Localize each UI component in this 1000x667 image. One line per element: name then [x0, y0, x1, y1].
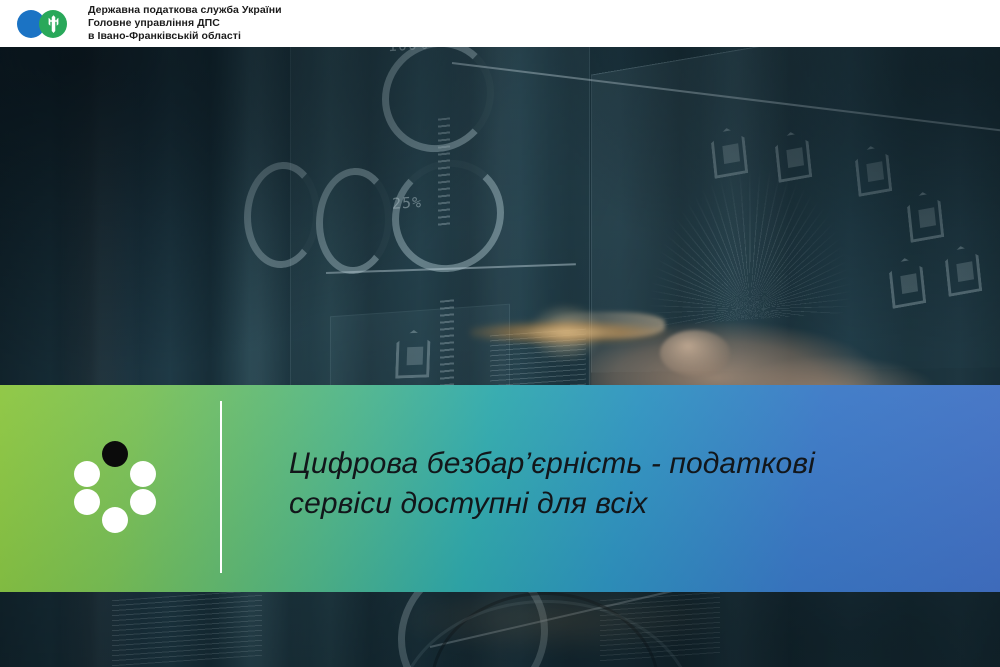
org-line-2: Головне управління ДПС [88, 17, 282, 30]
dot-bottom-left [74, 489, 100, 515]
dot-top-accent [102, 441, 128, 467]
ukraine-trident-icon [46, 15, 61, 33]
headline-line-2: сервіси доступні для всіх [289, 484, 929, 524]
banner-headline: Цифрова безбар’єрність - податкові серві… [289, 444, 929, 524]
dot-bottom [102, 507, 128, 533]
dot-top-right [130, 461, 156, 487]
banner-vertical-divider [220, 401, 222, 573]
dot-bottom-right [130, 489, 156, 515]
org-line-1: Державна податкова служба України [88, 4, 282, 17]
dot-top-left [74, 461, 100, 487]
page-root: 100% 25% [0, 0, 1000, 667]
org-line-3: в Івано-Франківській області [88, 30, 282, 43]
organization-title: Державна податкова служба України Головн… [88, 4, 282, 44]
six-dot-hexagon-mark [72, 441, 158, 527]
dps-logo[interactable] [17, 7, 79, 41]
site-header: Державна податкова служба України Головн… [0, 0, 1000, 47]
headline-line-1: Цифрова безбар’єрність - податкові [289, 444, 929, 484]
